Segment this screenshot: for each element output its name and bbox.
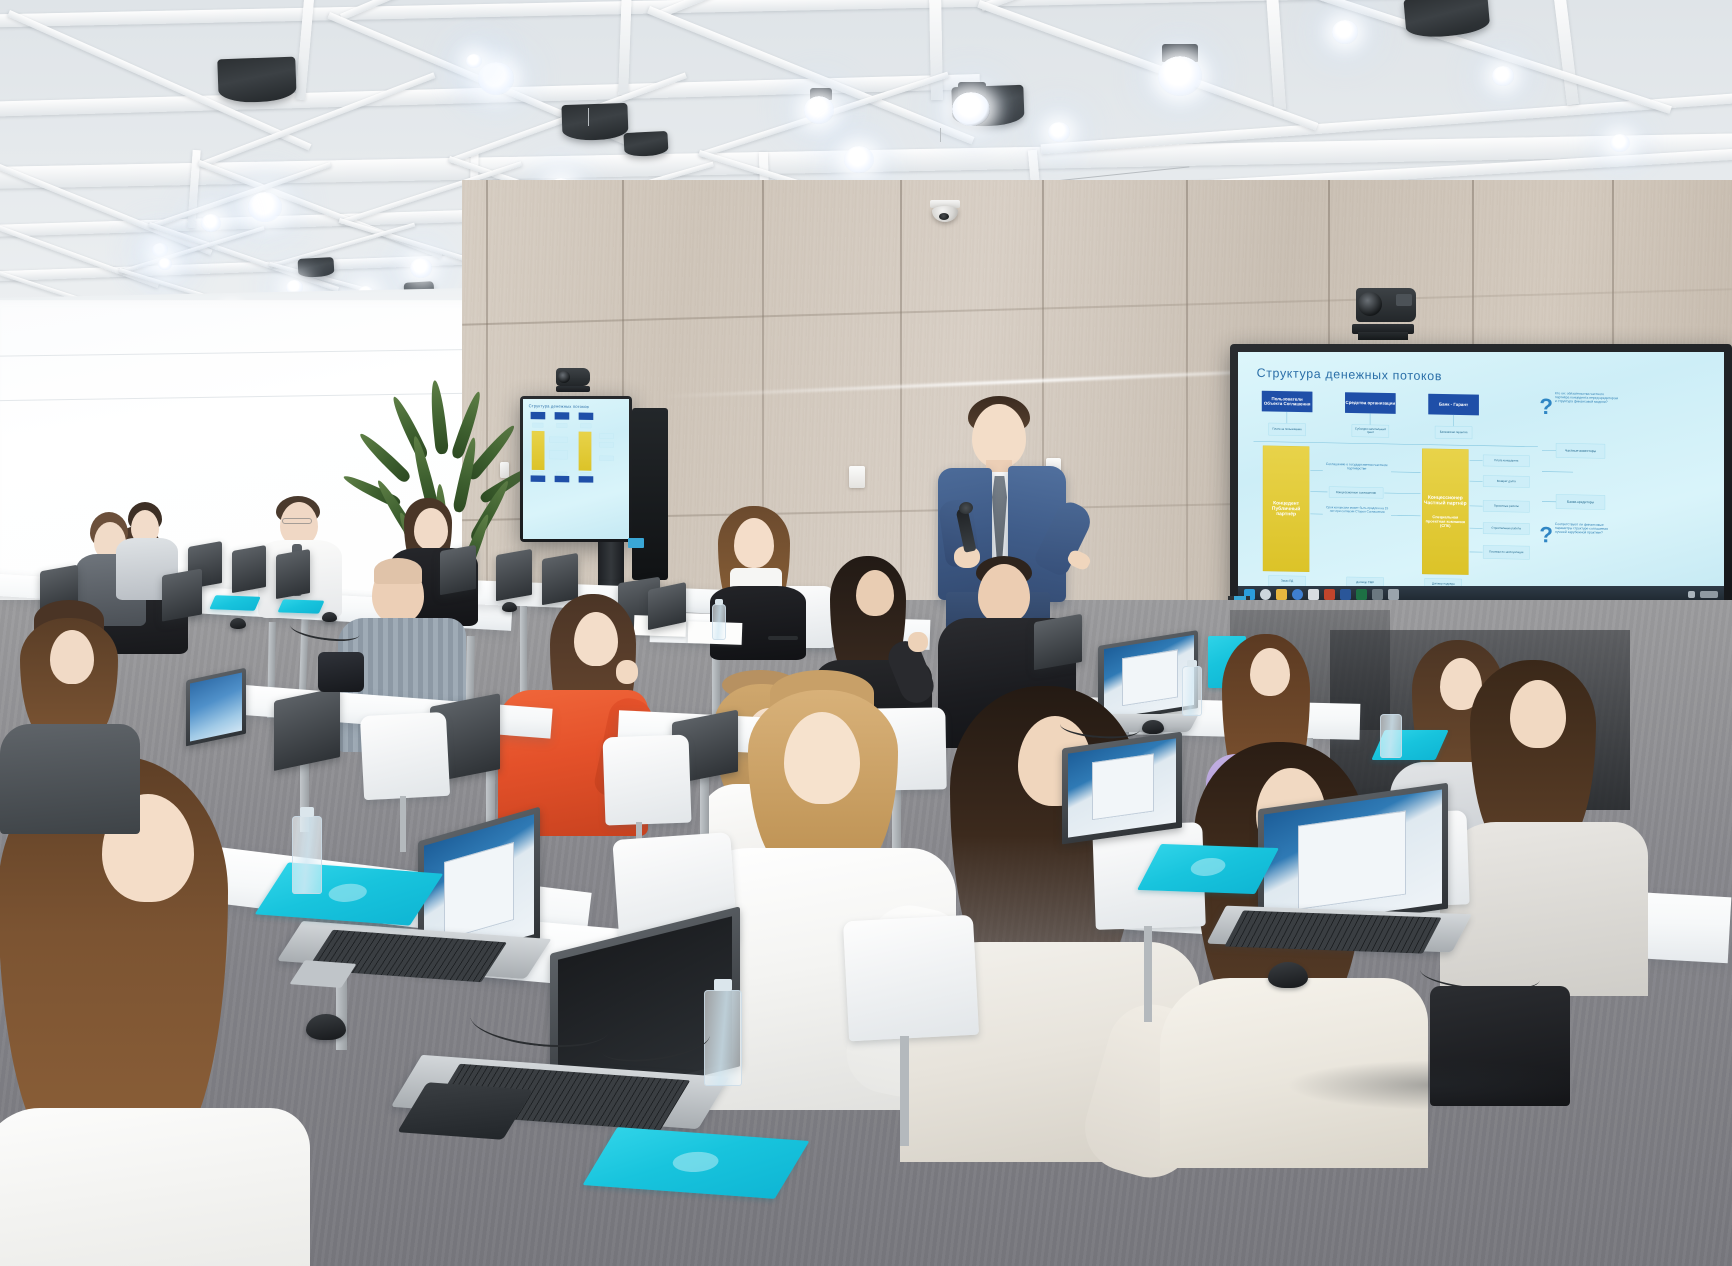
search-icon[interactable] <box>1260 589 1271 600</box>
ceiling-spotlight <box>152 243 168 257</box>
wall-sensor-icon <box>849 466 865 488</box>
ceiling-spotlight <box>1610 134 1630 152</box>
ceiling-spotlight <box>248 192 282 222</box>
slide-yellow-node-1: Концедент Публичный партнёр <box>1263 446 1310 572</box>
slide-right-note-2: Соответствуют ли финансовые параметры ст… <box>1555 522 1618 535</box>
slide-center-note-2: Концессионное соглашение <box>1329 487 1383 499</box>
attendee <box>0 600 140 830</box>
mail-icon[interactable] <box>1308 589 1319 600</box>
system-tray-icon[interactable] <box>1688 591 1695 598</box>
laptop-screen[interactable] <box>190 672 242 741</box>
explorer-icon[interactable] <box>1276 589 1287 600</box>
laptop[interactable] <box>276 549 310 599</box>
slide-label-7: Строительные работы <box>1483 522 1530 534</box>
mouse[interactable] <box>306 1014 346 1040</box>
water-bottle <box>712 604 726 640</box>
slide-question-mark-2: ? <box>1539 522 1553 548</box>
mouse[interactable] <box>230 618 246 629</box>
mouse[interactable] <box>1268 962 1308 988</box>
ceiling-spotlight <box>1048 122 1070 142</box>
ceiling-speaker <box>217 57 296 104</box>
ceiling-speaker <box>623 131 668 157</box>
slide-label-2: Субсидия капитальный грант <box>1352 424 1389 437</box>
side-display-screen[interactable]: Структура денежных потоков <box>523 399 629 539</box>
slide-node-top-3: Банк - Гарант <box>1428 394 1479 416</box>
slide-title: Структура денежных потоков <box>1257 366 1442 384</box>
laptop-keyboard[interactable] <box>1224 910 1441 953</box>
laptop[interactable] <box>232 545 266 593</box>
ceiling-spotlight <box>201 214 221 232</box>
main-display-screen[interactable]: Структура денежных потоков Пользователи … <box>1238 352 1724 600</box>
slide-center-note-3: Срок концессии может быть продлён на 15 … <box>1324 506 1391 514</box>
floor-shadow <box>1286 1060 1586 1110</box>
slide-label-8: Платежи по эксплуатации <box>1483 545 1530 559</box>
water-bottle <box>704 990 742 1086</box>
laptop[interactable] <box>1034 614 1082 670</box>
water-bottle <box>292 816 322 894</box>
ceiling-spotlight <box>410 258 432 278</box>
ceiling-spotlight <box>844 146 874 173</box>
ceiling-spotlight <box>1492 66 1514 86</box>
app-icon[interactable] <box>1372 589 1383 600</box>
ceiling-speaker <box>298 257 335 278</box>
slide-center-note-1: Соглашение о государственно-частном парт… <box>1324 462 1389 471</box>
side-display-side-panel <box>632 408 668 580</box>
ceiling-speaker <box>561 103 628 141</box>
slide-label-6: Проектные работы <box>1483 500 1530 512</box>
slide-node-top-2: Средства организации <box>1345 392 1396 414</box>
presenter-head <box>972 404 1026 468</box>
clock-icon[interactable] <box>1700 591 1718 598</box>
bag <box>318 652 364 692</box>
slide-label-1: Плата за пользование <box>1269 423 1306 436</box>
ceiling-spotlight <box>1158 56 1202 96</box>
water-bottle <box>1380 714 1402 758</box>
powerpoint-icon[interactable] <box>1324 589 1335 600</box>
ceiling-spotlight <box>1332 20 1358 44</box>
browser-icon[interactable] <box>1292 589 1303 600</box>
app-icon[interactable] <box>1388 589 1399 600</box>
slide-right-box-2: Банки-кредиторы <box>1556 494 1605 509</box>
main-display[interactable]: Структура денежных потоков Пользователи … <box>1230 344 1732 612</box>
ceiling-spotlight <box>952 92 990 126</box>
ceiling-spotlight <box>478 62 514 95</box>
mousepad <box>255 862 444 925</box>
slide-question-mark-1: ? <box>1539 394 1553 420</box>
excel-icon[interactable] <box>1356 589 1367 600</box>
ceiling-spotlight <box>158 258 172 270</box>
laptop[interactable] <box>162 568 202 621</box>
slide-label-4: Плата концедента <box>1483 455 1530 467</box>
presentation-slide: Структура денежных потоков Пользователи … <box>1238 352 1724 600</box>
laptop-screen[interactable] <box>1068 738 1176 837</box>
chair <box>360 712 450 800</box>
ceiling-spotlight <box>466 54 482 68</box>
slide-label-5: Возврат долга <box>1483 475 1530 487</box>
slide-yellow-node-2-line2: Специальная проектная компания (СПК) <box>1423 515 1468 529</box>
slide-yellow-node-2: Концессионер Частный партнёр Специальная… <box>1422 448 1469 574</box>
side-slide-title: Структура денежных потоков <box>529 404 589 410</box>
slide-right-box-1: Частные инвесторы <box>1556 443 1605 458</box>
chair <box>843 915 979 1042</box>
mousepad <box>209 595 260 611</box>
mousepad <box>277 599 324 613</box>
laptop[interactable] <box>648 582 686 630</box>
slide-label-3: Банковская гарантия <box>1435 426 1472 439</box>
pen <box>768 636 798 640</box>
slide-right-note-1: Кто он: обязательства частного партнёра … <box>1555 391 1618 404</box>
ceiling-spotlight <box>804 96 834 124</box>
training-room-photograph: Структура денежных потоков <box>0 0 1732 1266</box>
side-display-status-led <box>628 538 644 548</box>
attendee <box>1440 660 1650 990</box>
side-display[interactable]: Структура денежных потоков <box>520 396 632 542</box>
slide-yellow-node-2-line1: Концессионер Частный партнёр <box>1423 495 1468 507</box>
word-icon[interactable] <box>1340 589 1351 600</box>
slide-node-top-1: Пользователи Объекта Соглашения <box>1262 391 1313 413</box>
mousepad <box>1137 844 1279 894</box>
